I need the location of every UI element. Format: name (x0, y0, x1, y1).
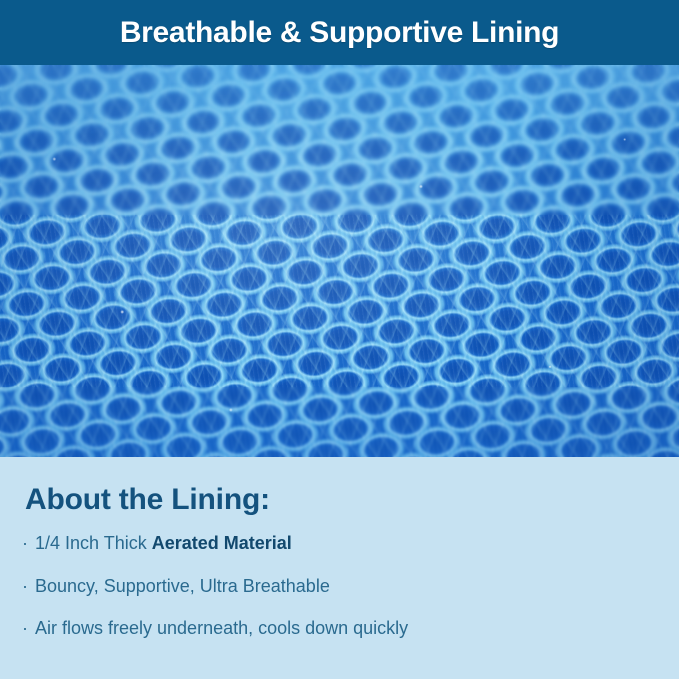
mesh-yarn-fuzz (0, 65, 679, 457)
list-item-emphasis: Aerated Material (152, 533, 292, 553)
info-panel: About the Lining: ·1/4 Inch Thick Aerate… (0, 457, 679, 679)
product-feature-card: Breathable & Supportive Lining About the… (0, 0, 679, 679)
header-banner: Breathable & Supportive Lining (0, 0, 679, 65)
bullet-dot-icon: · (22, 576, 28, 596)
list-item: ·1/4 Inch Thick Aerated Material (22, 533, 652, 554)
info-heading: About the Lining: (25, 485, 270, 515)
bullet-dot-icon: · (22, 533, 28, 553)
list-item-text: Bouncy, Supportive, Ultra Breathable (35, 576, 330, 596)
list-item: ·Bouncy, Supportive, Ultra Breathable (22, 576, 652, 597)
mesh-fabric-photo (0, 65, 679, 457)
list-item-text: Air flows freely underneath, cools down … (35, 618, 408, 638)
mesh-weave-group (0, 65, 679, 457)
feature-bullet-list: ·1/4 Inch Thick Aerated Material ·Bouncy… (22, 533, 652, 661)
list-item-text: 1/4 Inch Thick (35, 533, 152, 553)
bullet-dot-icon: · (22, 618, 28, 638)
page-title: Breathable & Supportive Lining (120, 18, 559, 48)
list-item: ·Air flows freely underneath, cools down… (22, 618, 652, 639)
